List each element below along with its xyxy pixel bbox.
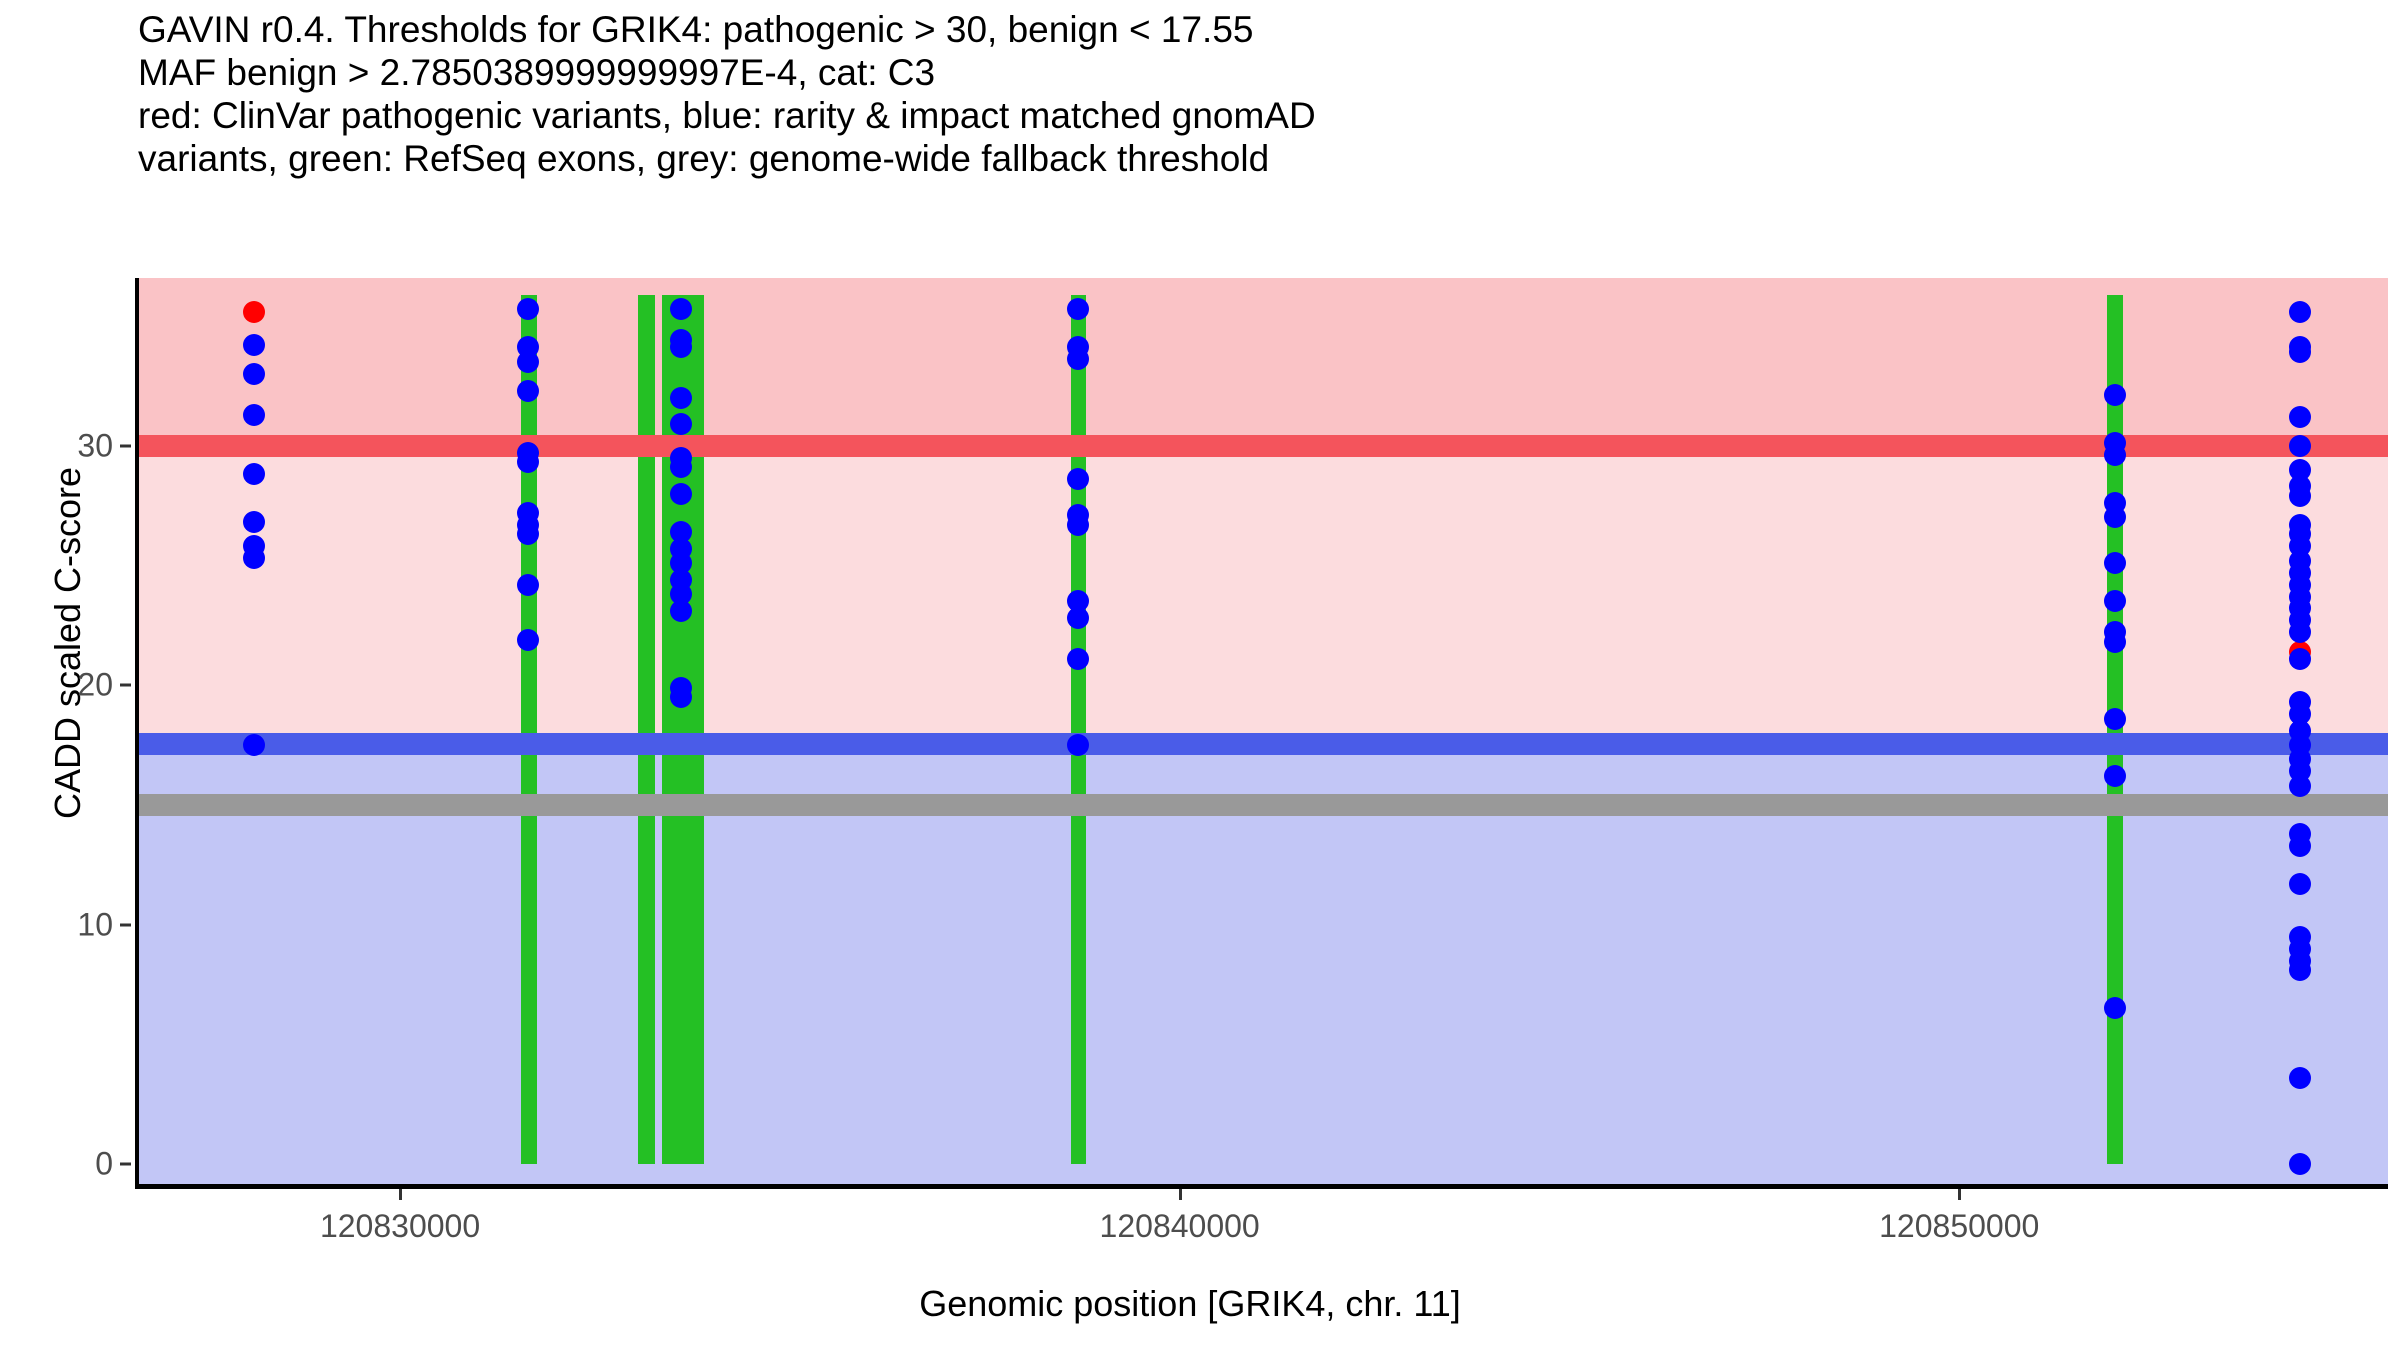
gnomad-variant-point xyxy=(670,483,692,505)
pathogenic-variant-point xyxy=(243,301,265,323)
gnomad-variant-point xyxy=(243,363,265,385)
y-tick-mark xyxy=(120,444,131,447)
gnomad-variant-point xyxy=(2104,552,2126,574)
title-line-2: MAF benign > 2.7850389999999997E-4, cat:… xyxy=(138,51,2338,94)
refseq-exon-marker xyxy=(1071,295,1087,1164)
gnomad-variant-point xyxy=(517,380,539,402)
x-axis-title: Genomic position [GRIK4, chr. 11] xyxy=(340,1283,2040,1325)
gnomad-variant-point xyxy=(670,686,692,708)
gnomad-variant-point xyxy=(670,600,692,622)
gnomad-variant-point xyxy=(517,629,539,651)
gnomad-variant-point xyxy=(2289,1153,2311,1175)
gnomad-variant-point xyxy=(2289,959,2311,981)
gnomad-variant-point xyxy=(1067,648,1089,670)
title-line-3: red: ClinVar pathogenic variants, blue: … xyxy=(138,94,2338,137)
x-tick-mark xyxy=(399,1188,402,1200)
gnomad-variant-point xyxy=(2289,406,2311,428)
gnomad-variant-point xyxy=(2289,341,2311,363)
refseq-exon-marker xyxy=(521,295,537,1164)
y-tick-label: 0 xyxy=(95,1146,113,1183)
gnomad-variant-point xyxy=(2289,1067,2311,1089)
x-axis-ticks: 120830000120840000120850000 xyxy=(135,1188,2388,1283)
pathogenic-upper-band xyxy=(135,278,2388,446)
gnomad-variant-point xyxy=(243,404,265,426)
pathogenic-lower-band xyxy=(135,446,2388,744)
benign-threshold-line xyxy=(135,733,2388,755)
x-tick-mark xyxy=(1179,1188,1182,1200)
gnomad-variant-point xyxy=(2289,873,2311,895)
x-tick-mark xyxy=(1958,1188,1961,1200)
gnomad-variant-point xyxy=(670,413,692,435)
y-tick-mark xyxy=(120,923,131,926)
gnomad-variant-point xyxy=(517,574,539,596)
refseq-exon-marker xyxy=(638,295,655,1164)
y-tick-mark xyxy=(120,684,131,687)
fallback-threshold-line xyxy=(135,794,2388,816)
x-tick-label: 120850000 xyxy=(1879,1208,2039,1245)
gnomad-variant-point xyxy=(670,298,692,320)
y-axis-ticks: 0102030 xyxy=(0,278,135,1188)
x-tick-label: 120840000 xyxy=(1100,1208,1260,1245)
gnomad-variant-point xyxy=(517,351,539,373)
y-tick-label: 30 xyxy=(77,427,113,464)
gnomad-variant-point xyxy=(2289,301,2311,323)
gnomad-variant-point xyxy=(517,523,539,545)
plot-panel-wrap xyxy=(135,278,2388,1188)
gnomad-variant-point xyxy=(2289,485,2311,507)
y-axis-line xyxy=(135,278,139,1188)
gnomad-variant-point xyxy=(670,456,692,478)
gnomad-variant-point xyxy=(2289,648,2311,670)
gnomad-variant-point xyxy=(2289,435,2311,457)
chart-title-block: GAVIN r0.4. Thresholds for GRIK4: pathog… xyxy=(138,8,2338,180)
y-tick-label: 20 xyxy=(77,667,113,704)
x-tick-label: 120830000 xyxy=(320,1208,480,1245)
chart-root: GAVIN r0.4. Thresholds for GRIK4: pathog… xyxy=(0,0,2400,1350)
gnomad-variant-point xyxy=(1067,514,1089,536)
y-tick-label: 10 xyxy=(77,906,113,943)
title-line-4: variants, green: RefSeq exons, grey: gen… xyxy=(138,137,2338,180)
y-tick-mark xyxy=(120,1163,131,1166)
gnomad-variant-point xyxy=(2104,708,2126,730)
pathogenic-threshold-line xyxy=(135,435,2388,457)
gnomad-variant-point xyxy=(2104,631,2126,653)
gnomad-variant-point xyxy=(670,387,692,409)
plot-panel xyxy=(135,278,2388,1188)
gnomad-variant-point xyxy=(670,336,692,358)
x-axis-line xyxy=(135,1184,2388,1189)
gnomad-variant-point xyxy=(2289,835,2311,857)
title-line-1: GAVIN r0.4. Thresholds for GRIK4: pathog… xyxy=(138,8,2338,51)
gnomad-variant-point xyxy=(517,298,539,320)
gnomad-variant-point xyxy=(2289,775,2311,797)
